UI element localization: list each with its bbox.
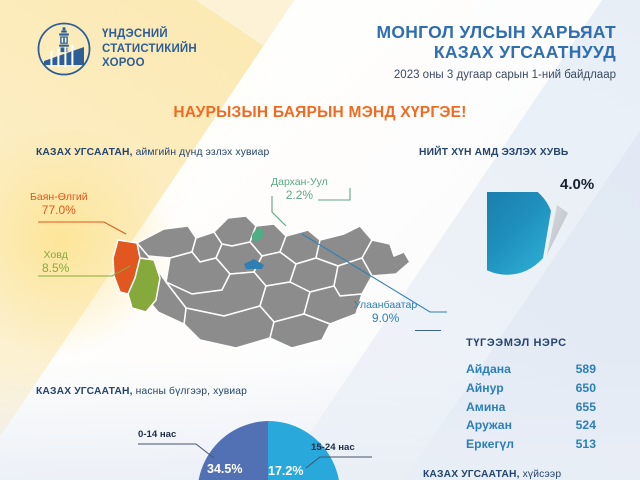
map-label-darkhan-uul: Дархан-Уул 2.2% — [271, 177, 328, 202]
name-label: Еркегүл — [466, 435, 514, 454]
table-row: Айнур 650 — [466, 379, 596, 398]
name-count: 524 — [576, 416, 596, 435]
title-line-2: КАЗАХ УГСААТНУУД — [376, 42, 616, 62]
table-row: Еркегүл 513 — [466, 435, 596, 454]
name-count: 650 — [576, 379, 596, 398]
age-heading-light: насны бүлгээр, хувиар — [133, 386, 247, 397]
names-section-heading: ТҮГЭЭМЭЛ НЭРС — [466, 337, 567, 349]
pie-slice-other — [487, 192, 551, 275]
sex-section-heading: КАЗАХ УГСААТАН, хүйсээр — [423, 469, 561, 480]
name-count: 589 — [576, 360, 596, 379]
age-heading-bold: КАЗАХ УГСААТАН, — [36, 386, 133, 397]
map-label-khovd: Ховд 8.5% — [42, 250, 69, 275]
name-label: Амина — [466, 398, 505, 417]
map-heading-light: аймгийн дүнд эзлэх хувиар — [133, 147, 270, 158]
table-row: Аружан 524 — [466, 416, 596, 435]
map-label-name: Дархан-Уул — [271, 177, 328, 189]
name-count: 655 — [576, 398, 596, 417]
age-label-15-24: 15-24 нас — [311, 442, 355, 453]
greeting-banner: НАУРЫЗЫН БАЯРЫН МЭНД ХҮРГЭЕ! — [0, 104, 640, 122]
name-label: Аружан — [466, 416, 512, 435]
title-line-1: МОНГОЛ УЛСЫН ХАРЬЯАТ — [376, 22, 616, 42]
common-names-table: Айдана 589 Айнур 650 Амина 655 Аружан 52… — [466, 360, 596, 454]
map-label-value: 8.5% — [42, 262, 69, 275]
name-label: Айнур — [466, 379, 504, 398]
map-label-name: Улаанбаатар — [354, 300, 417, 312]
page-title: МОНГОЛ УЛСЫН ХАРЬЯАТ КАЗАХ УГСААТНУУД 20… — [376, 22, 616, 81]
map-heading-bold: КАЗАХ УГСААТАН, — [36, 147, 133, 158]
logo-line-1: ҮНДЭСНИЙ — [102, 27, 197, 42]
map-label-ulaanbaatar: Улаанбаатар 9.0% — [354, 300, 417, 325]
name-count: 513 — [576, 435, 596, 454]
title-subtitle: 2023 оны 3 дугаар сарын 1-ний байдлаар — [376, 69, 616, 81]
age-label-0-14: 0-14 нас — [138, 429, 176, 440]
table-row: Айдана 589 — [466, 360, 596, 379]
pie-callout-value: 4.0% — [560, 176, 594, 193]
map-label-value: 2.2% — [271, 189, 328, 202]
logo-line-3: ХОРОО — [102, 56, 197, 71]
mongolia-map — [104, 196, 430, 361]
map-label-value: 9.0% — [354, 312, 417, 325]
sex-heading-light: хүйсээр — [520, 469, 562, 480]
infographic-canvas: ҮНДЭСНИЙ СТАТИСТИКИЙН ХОРОО МОНГОЛ УЛСЫН… — [0, 0, 640, 480]
table-row: Амина 655 — [466, 398, 596, 417]
map-section-heading: КАЗАХ УГСААТАН, аймгийн дүнд эзлэх хувиа… — [36, 147, 269, 158]
age-value-0-14: 34.5% — [207, 462, 242, 476]
sex-heading-bold: КАЗАХ УГСААТАН, — [423, 469, 520, 480]
nso-emblem-icon — [36, 21, 92, 77]
organization-name: ҮНДЭСНИЙ СТАТИСТИКИЙН ХОРОО — [102, 27, 197, 71]
logo-line-2: СТАТИСТИКИЙН — [102, 42, 197, 57]
age-section-heading: КАЗАХ УГСААТАН, насны бүлгээр, хувиар — [36, 386, 247, 397]
map-label-value: 77.0% — [30, 204, 88, 217]
population-share-pie-chart — [487, 192, 607, 314]
age-value-15-24: 17.2% — [268, 464, 303, 478]
pie-section-heading: НИЙТ ХҮН АМД ЭЗЛЭХ ХУВЬ — [419, 147, 568, 158]
map-label-name: Баян-Өлгий — [30, 192, 88, 204]
map-label-name: Ховд — [42, 250, 69, 262]
name-label: Айдана — [466, 360, 511, 379]
organization-logo: ҮНДЭСНИЙ СТАТИСТИКИЙН ХОРОО — [36, 21, 197, 77]
map-label-bayan-olgii: Баян-Өлгий 77.0% — [30, 192, 88, 217]
